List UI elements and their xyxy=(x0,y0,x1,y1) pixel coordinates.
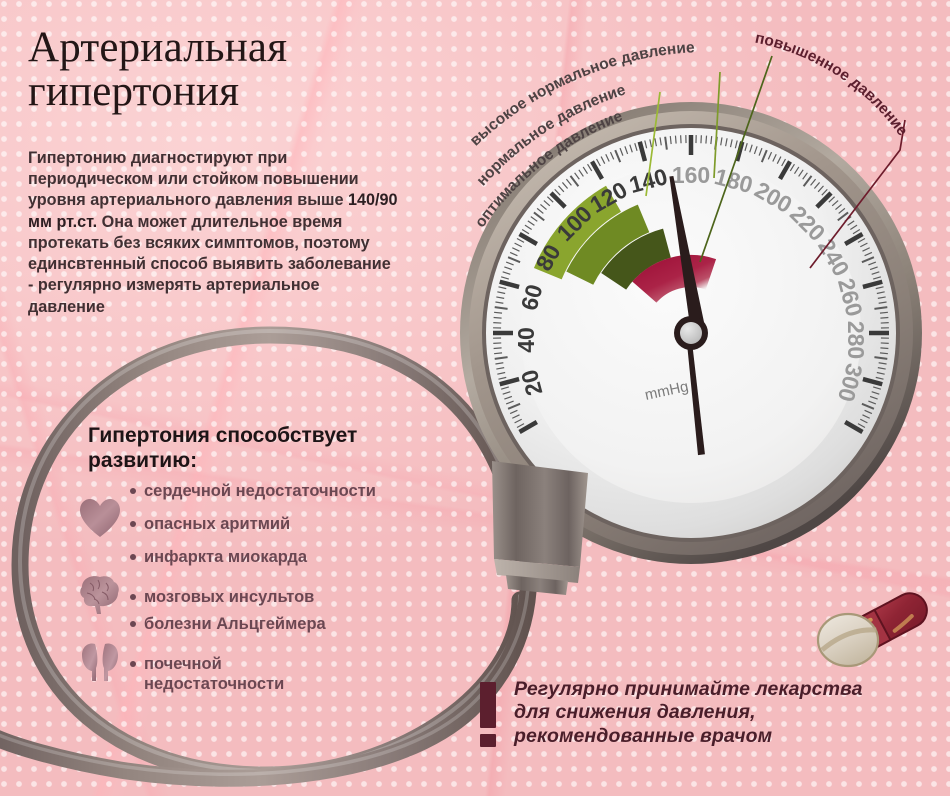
list-item: мозговых инсультов xyxy=(130,587,430,607)
gauge-tick xyxy=(494,348,502,349)
risks-heading: Гипертония способствует развитию: xyxy=(88,424,388,474)
intro-paragraph: Гипертонию диагностируют при периодическ… xyxy=(28,148,400,318)
gauge-tick xyxy=(675,136,676,144)
kidney-icon xyxy=(78,640,122,684)
list-item: болезни Альцгеймера xyxy=(130,614,430,634)
list-item: почечной недостаточности xyxy=(130,654,430,694)
gauge-tick xyxy=(494,353,502,354)
brain-icon xyxy=(78,573,122,617)
page-title: Артериальная гипертония xyxy=(28,26,287,114)
intro-text-prefix: Гипертонию диагностируют при периодическ… xyxy=(28,149,359,209)
risks-list: сердечной недостаточности опасных аритми… xyxy=(130,481,430,707)
gauge-tick xyxy=(711,136,712,144)
medication-notice-text: Регулярно принимайте лекарства для сниже… xyxy=(514,678,863,748)
gauge-tick xyxy=(494,317,502,318)
gauge-tick-label: 40 xyxy=(513,327,539,353)
medication-notice: Регулярно принимайте лекарства для сниже… xyxy=(478,678,938,748)
infographic-root: Артериальная гипертония Гипертонию диагн… xyxy=(0,0,950,796)
gauge-connector xyxy=(470,455,630,620)
gauge-tick xyxy=(670,136,671,144)
heart-icon xyxy=(78,497,122,541)
gauge-tick xyxy=(706,136,707,144)
gauge-tick xyxy=(880,353,888,354)
list-item: сердечной недостаточности xyxy=(130,481,430,501)
gauge-tick xyxy=(494,312,502,313)
gauge-tick-label: 160 xyxy=(672,162,710,188)
exclamation-icon xyxy=(478,678,500,747)
gauge-tick xyxy=(880,317,888,318)
gauge-tick xyxy=(880,348,888,349)
gauge-tick-label: 280 xyxy=(843,321,869,359)
list-item: опасных аритмий xyxy=(130,514,430,534)
gauge-tick xyxy=(880,312,888,313)
list-item: инфаркта миокарда xyxy=(130,547,430,567)
pills-illustration xyxy=(812,578,942,678)
